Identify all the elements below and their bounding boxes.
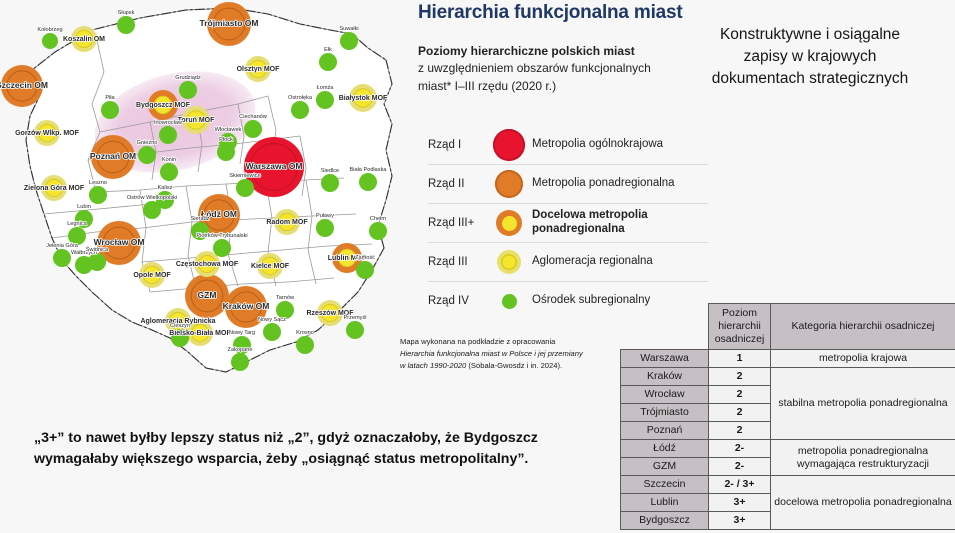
map-legend: Rząd I Metropolia ogólnokrajowa Rząd II …: [428, 126, 708, 320]
legend-text-rank-3: Aglomeracja regionalna: [532, 255, 653, 269]
table-cell-city: Trójmiasto: [621, 404, 709, 422]
map-city-label: Nowy Targ: [229, 330, 255, 336]
map-city-label: Wrocław OM: [94, 237, 145, 247]
legend-rank-label: Rząd IV: [428, 295, 486, 307]
legend-marker-aglomeracja-regionalna: [486, 250, 532, 274]
map-marker: [160, 163, 178, 181]
map-city-label: GZM: [198, 290, 217, 300]
map-city-label: Słupsk: [118, 10, 135, 16]
map-city-label: Białystok MOF: [339, 95, 388, 102]
map-marker: [42, 33, 58, 49]
map-marker: [101, 101, 119, 119]
table-row: Łódź2-metropolia ponadregionalna wymagaj…: [621, 440, 955, 458]
map-city-label: Radom MOF: [266, 219, 308, 226]
map-city-label: Gorzów Wlkp. MOF: [15, 130, 79, 137]
legend-row-rank-1: Rząd I Metropolia ogólnokrajowa: [428, 126, 708, 164]
map-city-label: Puławy: [316, 213, 334, 219]
map-city-label: Ostrołęka: [288, 95, 313, 101]
map-city-label: Inowrocław: [154, 120, 183, 126]
map-marker: [359, 173, 377, 191]
map-marker: [291, 101, 309, 119]
map-city-label: Zamość: [355, 255, 375, 261]
map-city-label: Kraków OM: [223, 301, 270, 311]
table-cell-level: 2: [709, 404, 771, 422]
map-marker: [346, 321, 364, 339]
table-cell-level: 1: [709, 350, 771, 368]
subtitle-line-1: Poziomy hierarchiczne polskich miast: [418, 43, 698, 60]
map-marker: [143, 201, 161, 219]
poland-map-svg: Warszawa OMTrójmiasto OMSzczecin OMPozna…: [0, 0, 420, 400]
table-row: Warszawa1metropolia krajowa: [621, 350, 955, 368]
table-header-category: Kategoria hierarchii osadniczej: [771, 304, 955, 350]
map-city-label: Bydgoszcz MOF: [136, 102, 191, 109]
map-marker: [236, 179, 254, 197]
legend-row-rank-2: Rząd II Metropolia ponadregionalna: [428, 164, 708, 203]
map-marker: [138, 146, 156, 164]
table-header-city: [621, 304, 709, 350]
table-cell-level: 2: [709, 386, 771, 404]
map-city-label: Świdnica: [86, 245, 109, 253]
map-marker: [117, 16, 135, 34]
map-city-label: Legnica: [67, 221, 87, 227]
title-block: Hierarchia funkcjonalna miast Poziomy hi…: [418, 2, 708, 95]
legend-marker-osrodek-subregionalny: [486, 294, 532, 309]
map-marker: [369, 222, 387, 240]
map-city-label: Chełm: [370, 216, 387, 222]
legend-text-rank-1: Metropolia ogólnokrajowa: [532, 138, 663, 152]
map-city-label: Toruń MOF: [178, 117, 216, 124]
table-cell-city: Szczecin: [621, 476, 709, 494]
map-city-label: Konin: [162, 157, 176, 163]
headline-line-2: zapisy w krajowych: [668, 46, 952, 68]
table-cell-city: Lublin: [621, 494, 709, 512]
map-marker: [263, 323, 281, 341]
map-city-label: Kielce MOF: [251, 263, 290, 270]
map-city-label: Grudziądz: [175, 75, 201, 81]
table-header-level: Poziom hierarchii osadniczej: [709, 304, 771, 350]
hierarchy-table: Poziom hierarchii osadniczej Kategoria h…: [620, 303, 955, 530]
table-cell-city: Wrocław: [621, 386, 709, 404]
table-cell-city: Bydgoszcz: [621, 512, 709, 530]
legend-row-rank-3: Rząd III Aglomeracja regionalna: [428, 242, 708, 281]
map-city-label: Warszawa OM: [246, 161, 303, 171]
map-marker: [340, 32, 358, 50]
map-marker: [321, 174, 339, 192]
map-city-label: Biała Podlaska: [349, 167, 387, 173]
map-city-label: Bielsko-Biała MOF: [169, 330, 231, 337]
map-city-label: Piotrków Trybunalski: [196, 233, 247, 239]
map-marker: [231, 353, 249, 371]
subtitle-line-2: z uwzględnieniem obszarów funkcjonalnych: [418, 60, 698, 77]
caption-line-2: wymagałaby większego wsparcia, żeby „osi…: [34, 449, 624, 470]
map-city-label: Jelenia Góra: [46, 243, 79, 249]
map-city-label: Skierniewice: [229, 173, 260, 179]
legend-marker-metropolia-ogolnokrajowa: [486, 129, 532, 161]
table-row: Szczecin2- / 3+docelowa metropolia ponad…: [621, 476, 955, 494]
poland-map: Warszawa OMTrójmiasto OMSzczecin OMPozna…: [0, 0, 420, 400]
map-city-label: Kalisz: [158, 185, 173, 191]
legend-rank-label: Rząd II: [428, 178, 486, 190]
hierarchy-table-wrap: Poziom hierarchii osadniczej Kategoria h…: [620, 303, 955, 530]
map-city-label: Opole MOF: [133, 272, 171, 279]
table-header-row: Poziom hierarchii osadniczej Kategoria h…: [621, 304, 955, 350]
map-city-label: Siedlce: [321, 168, 339, 174]
map-city-label: Łomża: [317, 85, 335, 91]
table-cell-city: GZM: [621, 458, 709, 476]
map-city-label: Włocławek: [215, 127, 242, 133]
source-note-years: w latach 1990-2020: [400, 361, 466, 370]
legend-text-rank-3plus: Docelowa metropolia ponadregionalna: [532, 209, 708, 237]
legend-marker-docelowa-metropolia: [486, 210, 532, 236]
table-cell-category: docelowa metropolia ponadregionalna: [771, 476, 955, 530]
table-cell-level: 2: [709, 368, 771, 386]
map-city-label: Zielona Góra MOF: [24, 185, 85, 192]
map-city-label: Poznań OM: [90, 151, 136, 161]
legend-rank-label: Rząd I: [428, 139, 486, 151]
map-city-label: Częstochowa MOF: [176, 261, 239, 268]
map-marker: [159, 126, 177, 144]
map-city-label: Trójmiasto OM: [199, 18, 258, 28]
caption-line-1: „3+” to nawet byłby lepszy status niż „2…: [34, 428, 624, 449]
map-subtitle: Poziomy hierarchiczne polskich miast z u…: [418, 43, 698, 95]
map-city-label: Leszno: [89, 180, 107, 186]
map-city-label: Ostrów Wielkopolski: [127, 195, 177, 201]
map-city-label: Olsztyn MOF: [237, 66, 281, 73]
map-city-label: Nowy Sącz: [258, 317, 286, 323]
headline: Konstruktywne i osiągalne zapisy w krajo…: [668, 24, 952, 90]
map-marker: [316, 219, 334, 237]
map-city-label: Suwałki: [339, 26, 358, 32]
legend-row-rank-3plus: Rząd III+ Docelowa metropolia ponadregio…: [428, 203, 708, 242]
legend-rank-label: Rząd III+: [428, 217, 486, 229]
headline-line-1: Konstruktywne i osiągalne: [668, 24, 952, 46]
map-city-label: Ełk: [324, 47, 332, 53]
map-city-label: Sieradz: [191, 216, 210, 222]
source-note-citation: (Sobala-Gwosdz i in. 2024).: [466, 361, 562, 370]
map-marker: [244, 120, 262, 138]
table-cell-level: 3+: [709, 512, 771, 530]
map-marker: [296, 336, 314, 354]
table-cell-level: 2-: [709, 440, 771, 458]
map-marker: [53, 249, 71, 267]
table-cell-level: 2-: [709, 458, 771, 476]
map-marker: [217, 143, 235, 161]
table-cell-level: 2: [709, 422, 771, 440]
map-city-label: Zakopane: [228, 347, 253, 353]
table-cell-level: 2- / 3+: [709, 476, 771, 494]
map-city-label: Cieszyn: [170, 323, 190, 329]
bottom-caption: „3+” to nawet byłby lepszy status niż „2…: [34, 428, 624, 471]
subtitle-line-3: miast* I–III rzędu (2020 r.): [418, 78, 698, 95]
table-cell-city: Warszawa: [621, 350, 709, 368]
map-marker: [213, 239, 231, 257]
map-city-label: Przemyśl: [344, 315, 367, 321]
map-title: Hierarchia funkcjonalna miast: [418, 2, 708, 24]
table-cell-city: Łódź: [621, 440, 709, 458]
table-cell-city: Poznań: [621, 422, 709, 440]
table-row: Kraków2stabilna metropolia ponadregional…: [621, 368, 955, 386]
legend-rank-label: Rząd III: [428, 256, 486, 268]
table-cell-city: Kraków: [621, 368, 709, 386]
map-city-label: Gniezno: [137, 140, 158, 146]
map-marker: [179, 81, 197, 99]
table-cell-category: metropolia ponadregionalna wymagająca re…: [771, 440, 955, 476]
map-city-label: Kołobrzeg: [37, 27, 62, 33]
legend-text-rank-2: Metropolia ponadregionalna: [532, 177, 675, 191]
map-marker: [319, 53, 337, 71]
map-marker: [316, 91, 334, 109]
map-city-label: Koszalin OM: [63, 36, 105, 43]
legend-marker-metropolia-ponadregionalna: [486, 170, 532, 198]
map-city-label: Tarnów: [276, 295, 295, 301]
map-city-label: Ciechanów: [239, 114, 268, 120]
map-city-label: Krosno: [296, 330, 314, 336]
table-cell-category: metropolia krajowa: [771, 350, 955, 368]
table-cell-level: 3+: [709, 494, 771, 512]
map-marker: [89, 186, 107, 204]
table-cell-category: stabilna metropolia ponadregionalna: [771, 368, 955, 440]
map-city-label: Lubin: [77, 204, 91, 210]
map-city-label: Szczecin OM: [0, 80, 48, 90]
map-marker: [356, 261, 374, 279]
map-city-label: Płock: [219, 137, 233, 143]
headline-line-3: dokumentach strategicznych: [668, 68, 952, 90]
map-city-label: Piła: [105, 95, 115, 101]
